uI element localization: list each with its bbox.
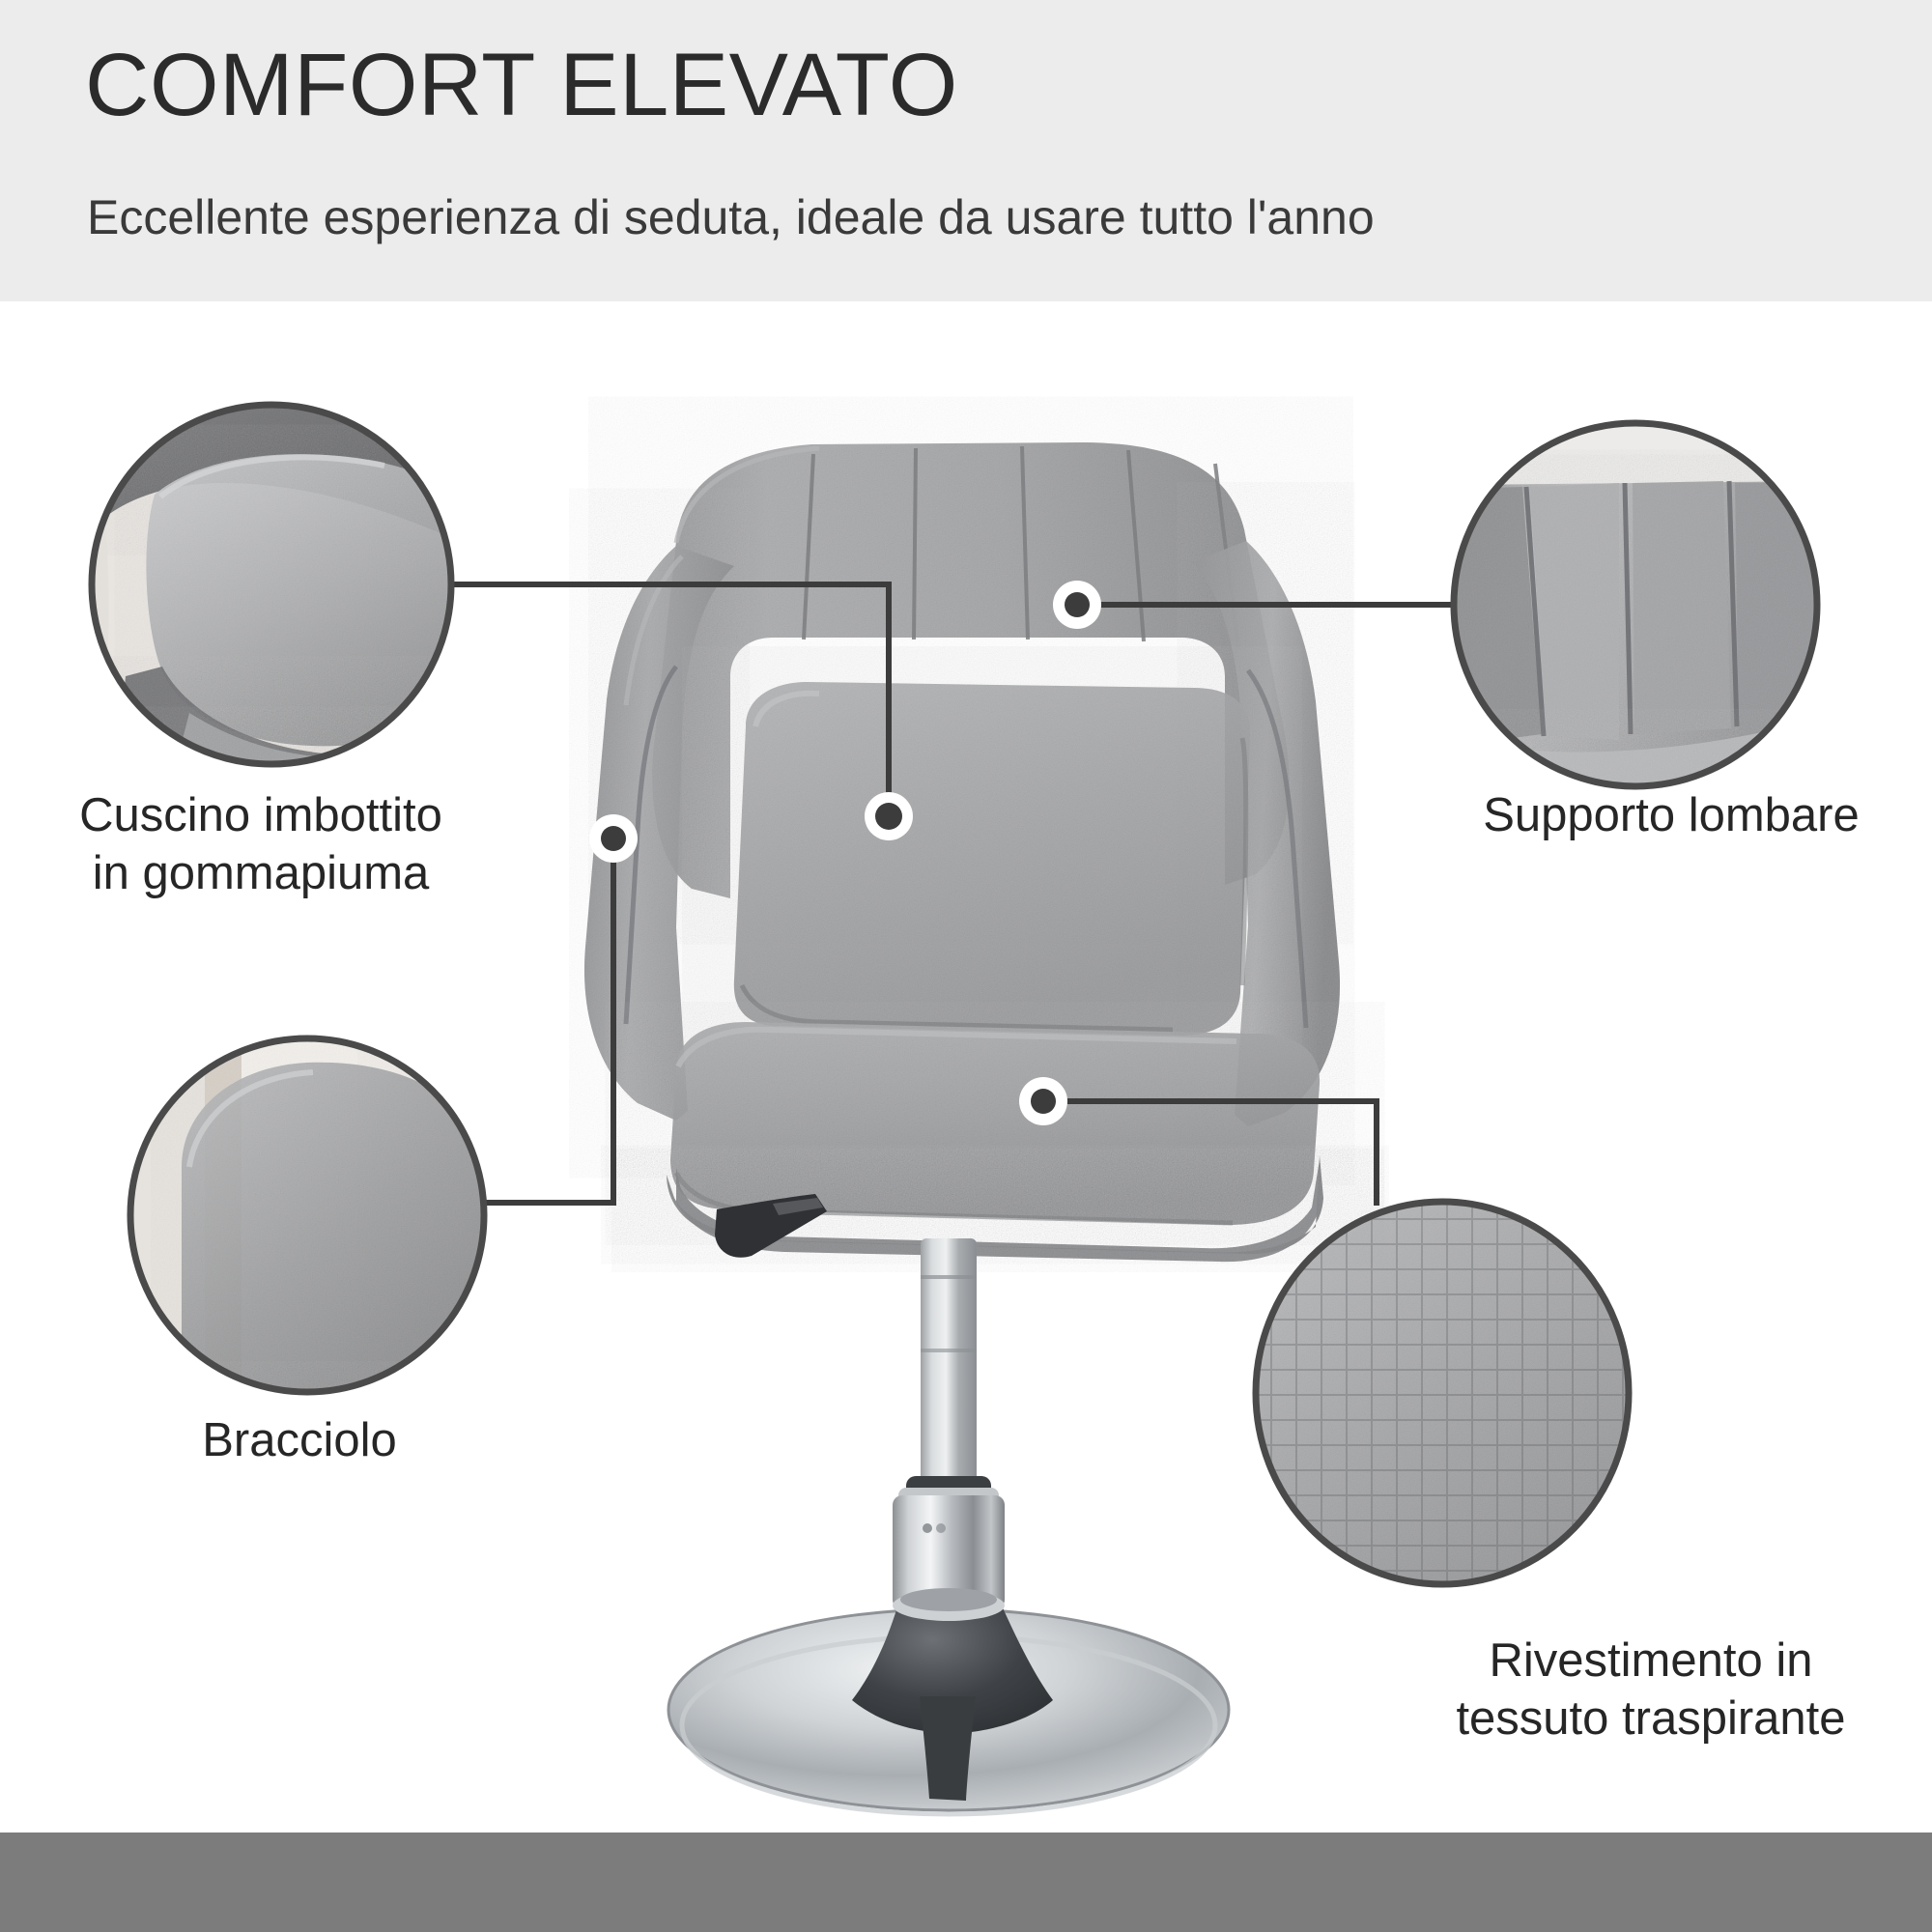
lumbar-pillow (734, 682, 1250, 1036)
detail-circle-cushion (87, 400, 462, 773)
footer-bar (0, 1833, 1932, 1932)
chair-base-disc (668, 1588, 1229, 1814)
callout-label-lumbar: Supporto lombare (1410, 787, 1932, 845)
marker-dot-cushion (865, 792, 913, 840)
chair-graphic (584, 442, 1340, 1814)
detail-circle-armrest (128, 1036, 487, 1432)
gas-lift-column (893, 1238, 1005, 1609)
marker-dot-lumbar (1053, 581, 1101, 629)
marker-dot-armrest (589, 814, 638, 863)
detail-circle-fabric (1254, 1200, 1634, 1590)
seat-cushion (670, 1022, 1320, 1225)
callout-label-cushion: Cuscino imbottito in gommapiuma (10, 787, 512, 903)
callout-label-fabric: Rivestimento in tessuto traspirante (1370, 1633, 1932, 1748)
detail-circle-lumbar (1452, 421, 1822, 794)
infographic-canvas: COMFORT ELEVATO Eccellente esperienza di… (0, 0, 1932, 1932)
marker-dot-fabric (1019, 1077, 1067, 1125)
callout-label-armrest: Bracciolo (77, 1412, 522, 1470)
